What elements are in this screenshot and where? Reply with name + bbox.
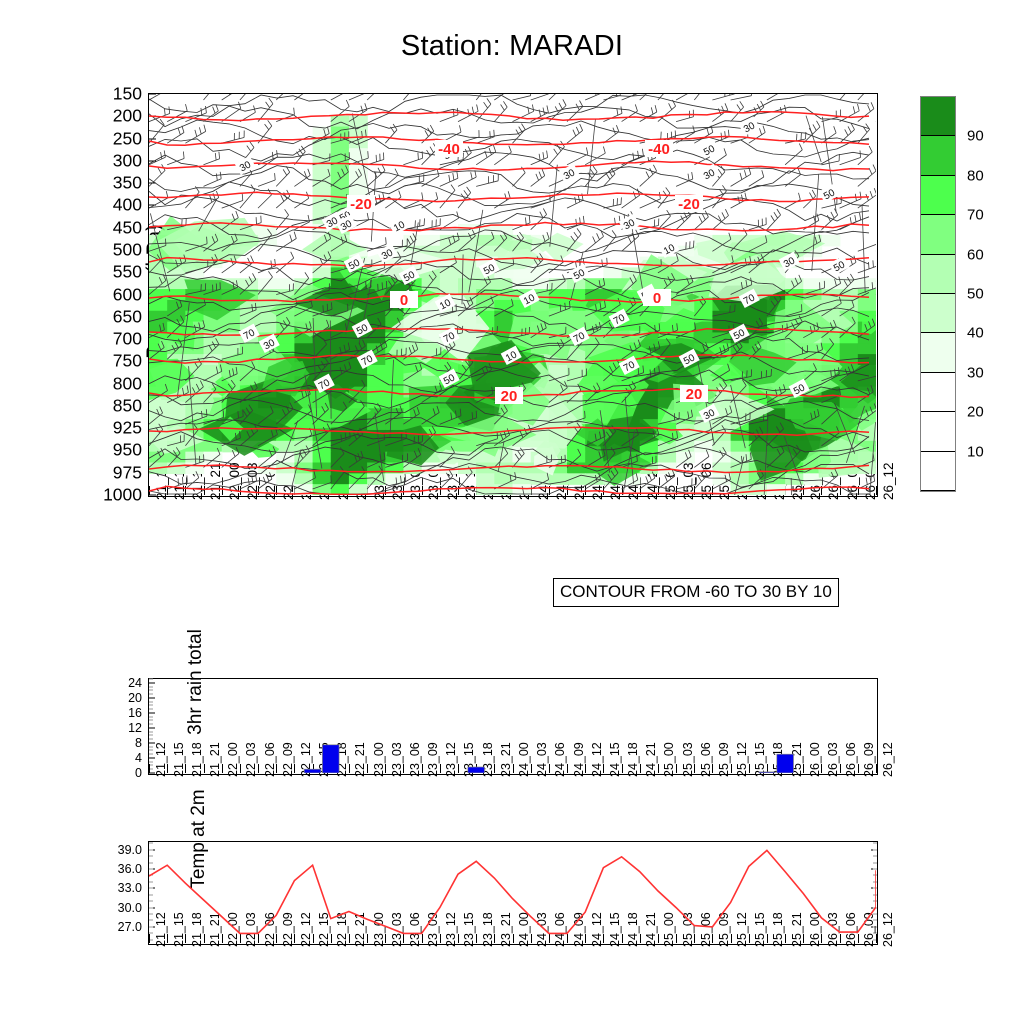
colorbar-band (921, 215, 955, 254)
colorbar-label: 10 (967, 443, 984, 460)
main-y-tick-label: 1000 (103, 485, 142, 506)
colorbar-label: 20 (967, 404, 984, 421)
colorbar-label: 60 (967, 246, 984, 263)
rain-y-tick-label: 16 (128, 706, 142, 720)
svg-text:-20: -20 (678, 196, 700, 213)
main-y-tick-label: 800 (113, 373, 142, 394)
svg-text:-20: -20 (350, 196, 372, 213)
x-tick-label: 26_12 (881, 742, 895, 777)
cross-section-panel: Pressure (hPa) 1502002503003504004505005… (148, 93, 878, 497)
colorbar-band (921, 452, 955, 491)
temperature-panel: Temp at 2m 27.030.033.036.039.0 21_1221_… (148, 841, 878, 945)
svg-text:20: 20 (501, 388, 518, 405)
rain-y-tick-label: 24 (128, 676, 142, 690)
main-y-tick-label: 500 (113, 239, 142, 260)
x-tick-mark (876, 486, 877, 495)
colorbar-label: 70 (967, 207, 984, 224)
colorbar-label: 30 (967, 364, 984, 381)
main-y-tick-label: 850 (113, 395, 142, 416)
colorbar-label: 80 (967, 167, 984, 184)
temp-y-axis-label: Temp at 2m (188, 644, 210, 1034)
svg-text:-40: -40 (648, 141, 670, 158)
main-y-tick-label: 650 (113, 306, 142, 327)
x-tick-label: 26_12 (881, 462, 896, 500)
colorbar-band (921, 255, 955, 294)
colorbar-band (921, 136, 955, 175)
colorbar-band (921, 97, 955, 136)
rain-y-tick-label: 4 (135, 751, 142, 765)
main-y-tick-label: 750 (113, 351, 142, 372)
colorbar-label: 90 (967, 128, 984, 145)
temp-y-tick-label: 36.0 (118, 862, 142, 876)
temp-y-tick-label: 39.0 (118, 843, 142, 857)
svg-text:0: 0 (653, 290, 661, 307)
rain-y-tick-label: 12 (128, 721, 142, 735)
cross-section-plot: 3050305050707050307070505030103050301010… (149, 94, 876, 495)
rain-bar-series (304, 745, 793, 773)
temp-y-tick-label: 30.0 (118, 901, 142, 915)
rain-y-tick-label: 8 (135, 736, 142, 750)
main-y-tick-label: 250 (113, 128, 142, 149)
colorbar-band (921, 333, 955, 372)
main-y-tick-label: 300 (113, 150, 142, 171)
x-tick-mark (876, 934, 877, 943)
contour-note: CONTOUR FROM -60 TO 30 BY 10 (553, 578, 839, 607)
rain-y-tick-label: 20 (128, 691, 142, 705)
svg-text:-40: -40 (438, 141, 460, 158)
main-y-tick-label: 975 (113, 462, 142, 483)
main-y-tick-label: 600 (113, 284, 142, 305)
temperature-line (149, 842, 876, 943)
main-y-tick-label: 550 (113, 262, 142, 283)
main-y-tick-label: 700 (113, 329, 142, 350)
temp-y-tick-label: 33.0 (118, 881, 142, 895)
colorbar-label: 50 (967, 286, 984, 303)
x-tick-mark (876, 764, 877, 773)
x-tick-label: 26_12 (881, 912, 895, 947)
temp-y-tick-label: 27.0 (118, 920, 142, 934)
main-y-tick-label: 150 (113, 84, 142, 105)
colorbar-band (921, 412, 955, 451)
main-y-tick-label: 350 (113, 173, 142, 194)
main-y-tick-label: 400 (113, 195, 142, 216)
rain-y-tick-label: 0 (135, 766, 142, 780)
main-y-tick-label: 950 (113, 440, 142, 461)
colorbar-band (921, 294, 955, 333)
colorbar-band (921, 373, 955, 412)
main-y-tick-label: 450 (113, 217, 142, 238)
rain-panel: 3hr rain total 04812162024 21_1221_1521_… (148, 678, 878, 775)
main-y-tick-label: 925 (113, 418, 142, 439)
colorbar-label: 40 (967, 325, 984, 342)
rain-bars (149, 679, 876, 773)
svg-text:20: 20 (686, 386, 703, 403)
humidity-colorbar: 908070605040302010 (920, 96, 956, 492)
main-y-tick-label: 200 (113, 106, 142, 127)
temp-series-line (149, 850, 876, 933)
svg-text:0: 0 (400, 292, 408, 309)
colorbar-band (921, 176, 955, 215)
